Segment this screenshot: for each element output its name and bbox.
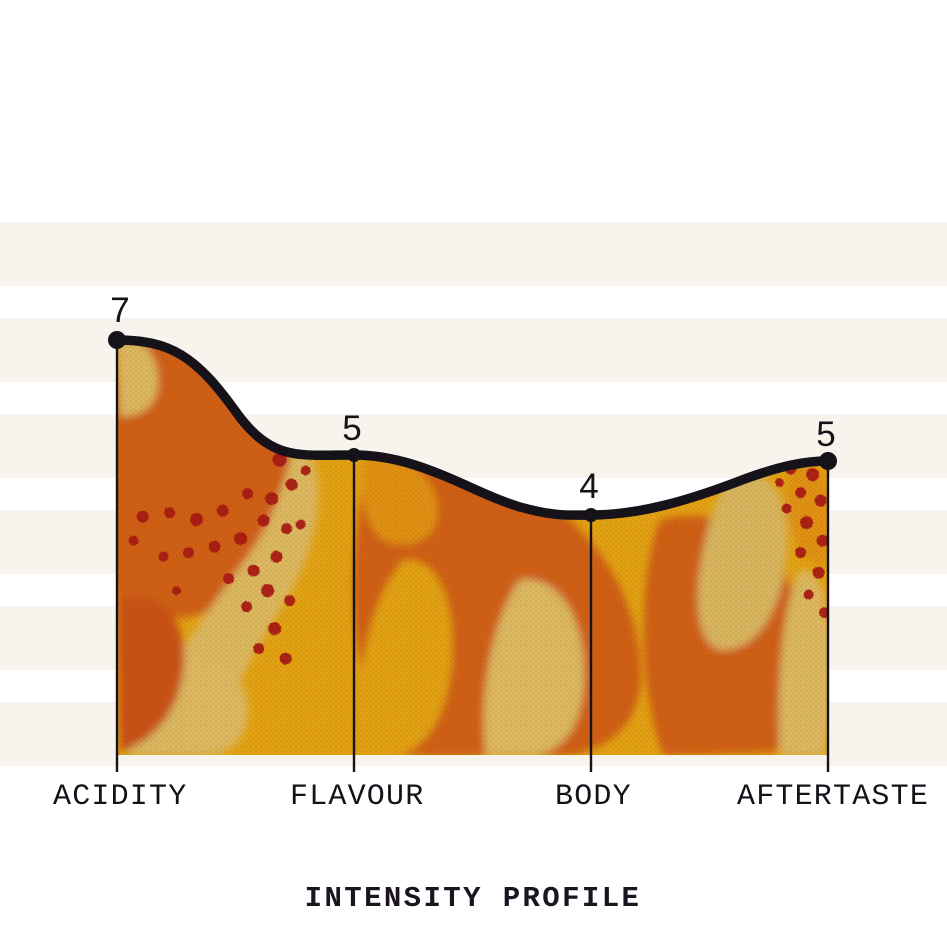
axis-label-body: BODY (555, 780, 632, 814)
value-label-acidity: 7 (110, 291, 129, 330)
value-label-aftertaste: 5 (816, 415, 835, 454)
intensity-profile-figure: 7 5 4 5 ACIDITY FLAVOUR BODY AFTERTASTE … (0, 0, 947, 945)
axis-label-acidity: ACIDITY (53, 780, 187, 814)
value-label-body: 4 (579, 467, 598, 506)
axis-label-aftertaste: AFTERTASTE (737, 780, 929, 814)
chart-title: INTENSITY PROFILE (305, 882, 642, 915)
axis-label-flavour: FLAVOUR (290, 780, 424, 814)
data-point-body (584, 508, 598, 522)
intensity-profile-chart: 7 5 4 5 ACIDITY FLAVOUR BODY AFTERTASTE … (0, 0, 947, 945)
data-point-acidity (108, 331, 126, 349)
data-point-aftertaste (819, 452, 837, 470)
value-label-flavour: 5 (342, 409, 361, 448)
data-point-flavour (347, 448, 361, 462)
